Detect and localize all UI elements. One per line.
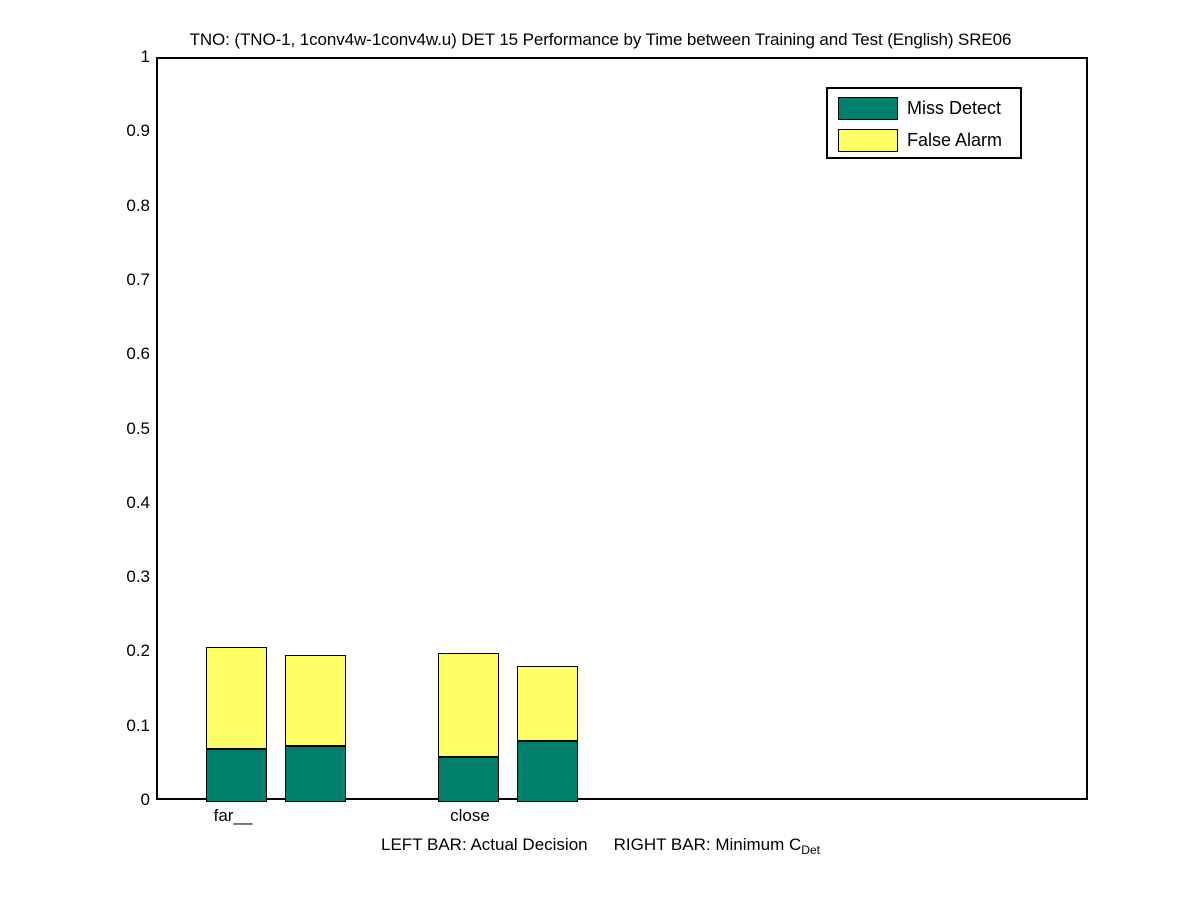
- bar-segment-miss-detect[interactable]: [438, 757, 499, 802]
- y-axis-tick-label: 0.5: [0, 420, 150, 437]
- bar-segment-false-alarm[interactable]: [206, 647, 267, 750]
- bar-segment-miss-detect[interactable]: [206, 749, 267, 802]
- plot-area: [156, 57, 1088, 800]
- bar-stack[interactable]: [285, 655, 346, 802]
- legend-item[interactable]: False Alarm: [828, 125, 1020, 155]
- legend-item-label: Miss Detect: [907, 96, 1001, 120]
- y-axis-tick-label: 0.3: [0, 568, 150, 585]
- y-axis-tick-label: 0.8: [0, 197, 150, 214]
- caption-right-bar: RIGHT BAR: Minimum C: [614, 835, 802, 854]
- bar-segment-false-alarm[interactable]: [438, 653, 499, 756]
- x-axis-tick-label: close: [450, 806, 490, 826]
- chart-caption: LEFT BAR: Actual DecisionRIGHT BAR: Mini…: [0, 834, 1201, 857]
- y-axis-tick-label: 0.9: [0, 122, 150, 139]
- chart-legend: Miss DetectFalse Alarm: [826, 87, 1022, 159]
- y-axis-tick-label: 0.6: [0, 345, 150, 362]
- legend-item-label: False Alarm: [907, 128, 1002, 152]
- y-axis-tick-label: 0.4: [0, 494, 150, 511]
- y-axis-tick-label: 0.7: [0, 271, 150, 288]
- legend-color-swatch: [838, 129, 898, 152]
- y-axis-tick-label: 0.1: [0, 717, 150, 734]
- bar-segment-miss-detect[interactable]: [285, 746, 346, 802]
- legend-color-swatch: [838, 97, 898, 120]
- bar-stack[interactable]: [206, 647, 267, 802]
- figure-canvas: TNO: (TNO-1, 1conv4w-1conv4w.u) DET 15 P…: [0, 0, 1201, 900]
- bar-segment-false-alarm[interactable]: [517, 666, 578, 741]
- x-axis-tick-label: far__: [214, 806, 253, 826]
- bar-segment-false-alarm[interactable]: [285, 655, 346, 746]
- y-axis-tick-label: 0: [0, 791, 150, 808]
- chart-title: TNO: (TNO-1, 1conv4w-1conv4w.u) DET 15 P…: [0, 30, 1201, 50]
- bar-segment-miss-detect[interactable]: [517, 741, 578, 802]
- y-axis-tick-label: 1: [0, 48, 150, 65]
- y-axis-tick-label: 0.2: [0, 642, 150, 659]
- bar-stack[interactable]: [517, 666, 578, 802]
- bar-stack[interactable]: [438, 653, 499, 802]
- caption-right-subscript: Det: [801, 843, 820, 857]
- legend-item[interactable]: Miss Detect: [828, 93, 1020, 123]
- caption-left-bar: LEFT BAR: Actual Decision: [381, 835, 588, 854]
